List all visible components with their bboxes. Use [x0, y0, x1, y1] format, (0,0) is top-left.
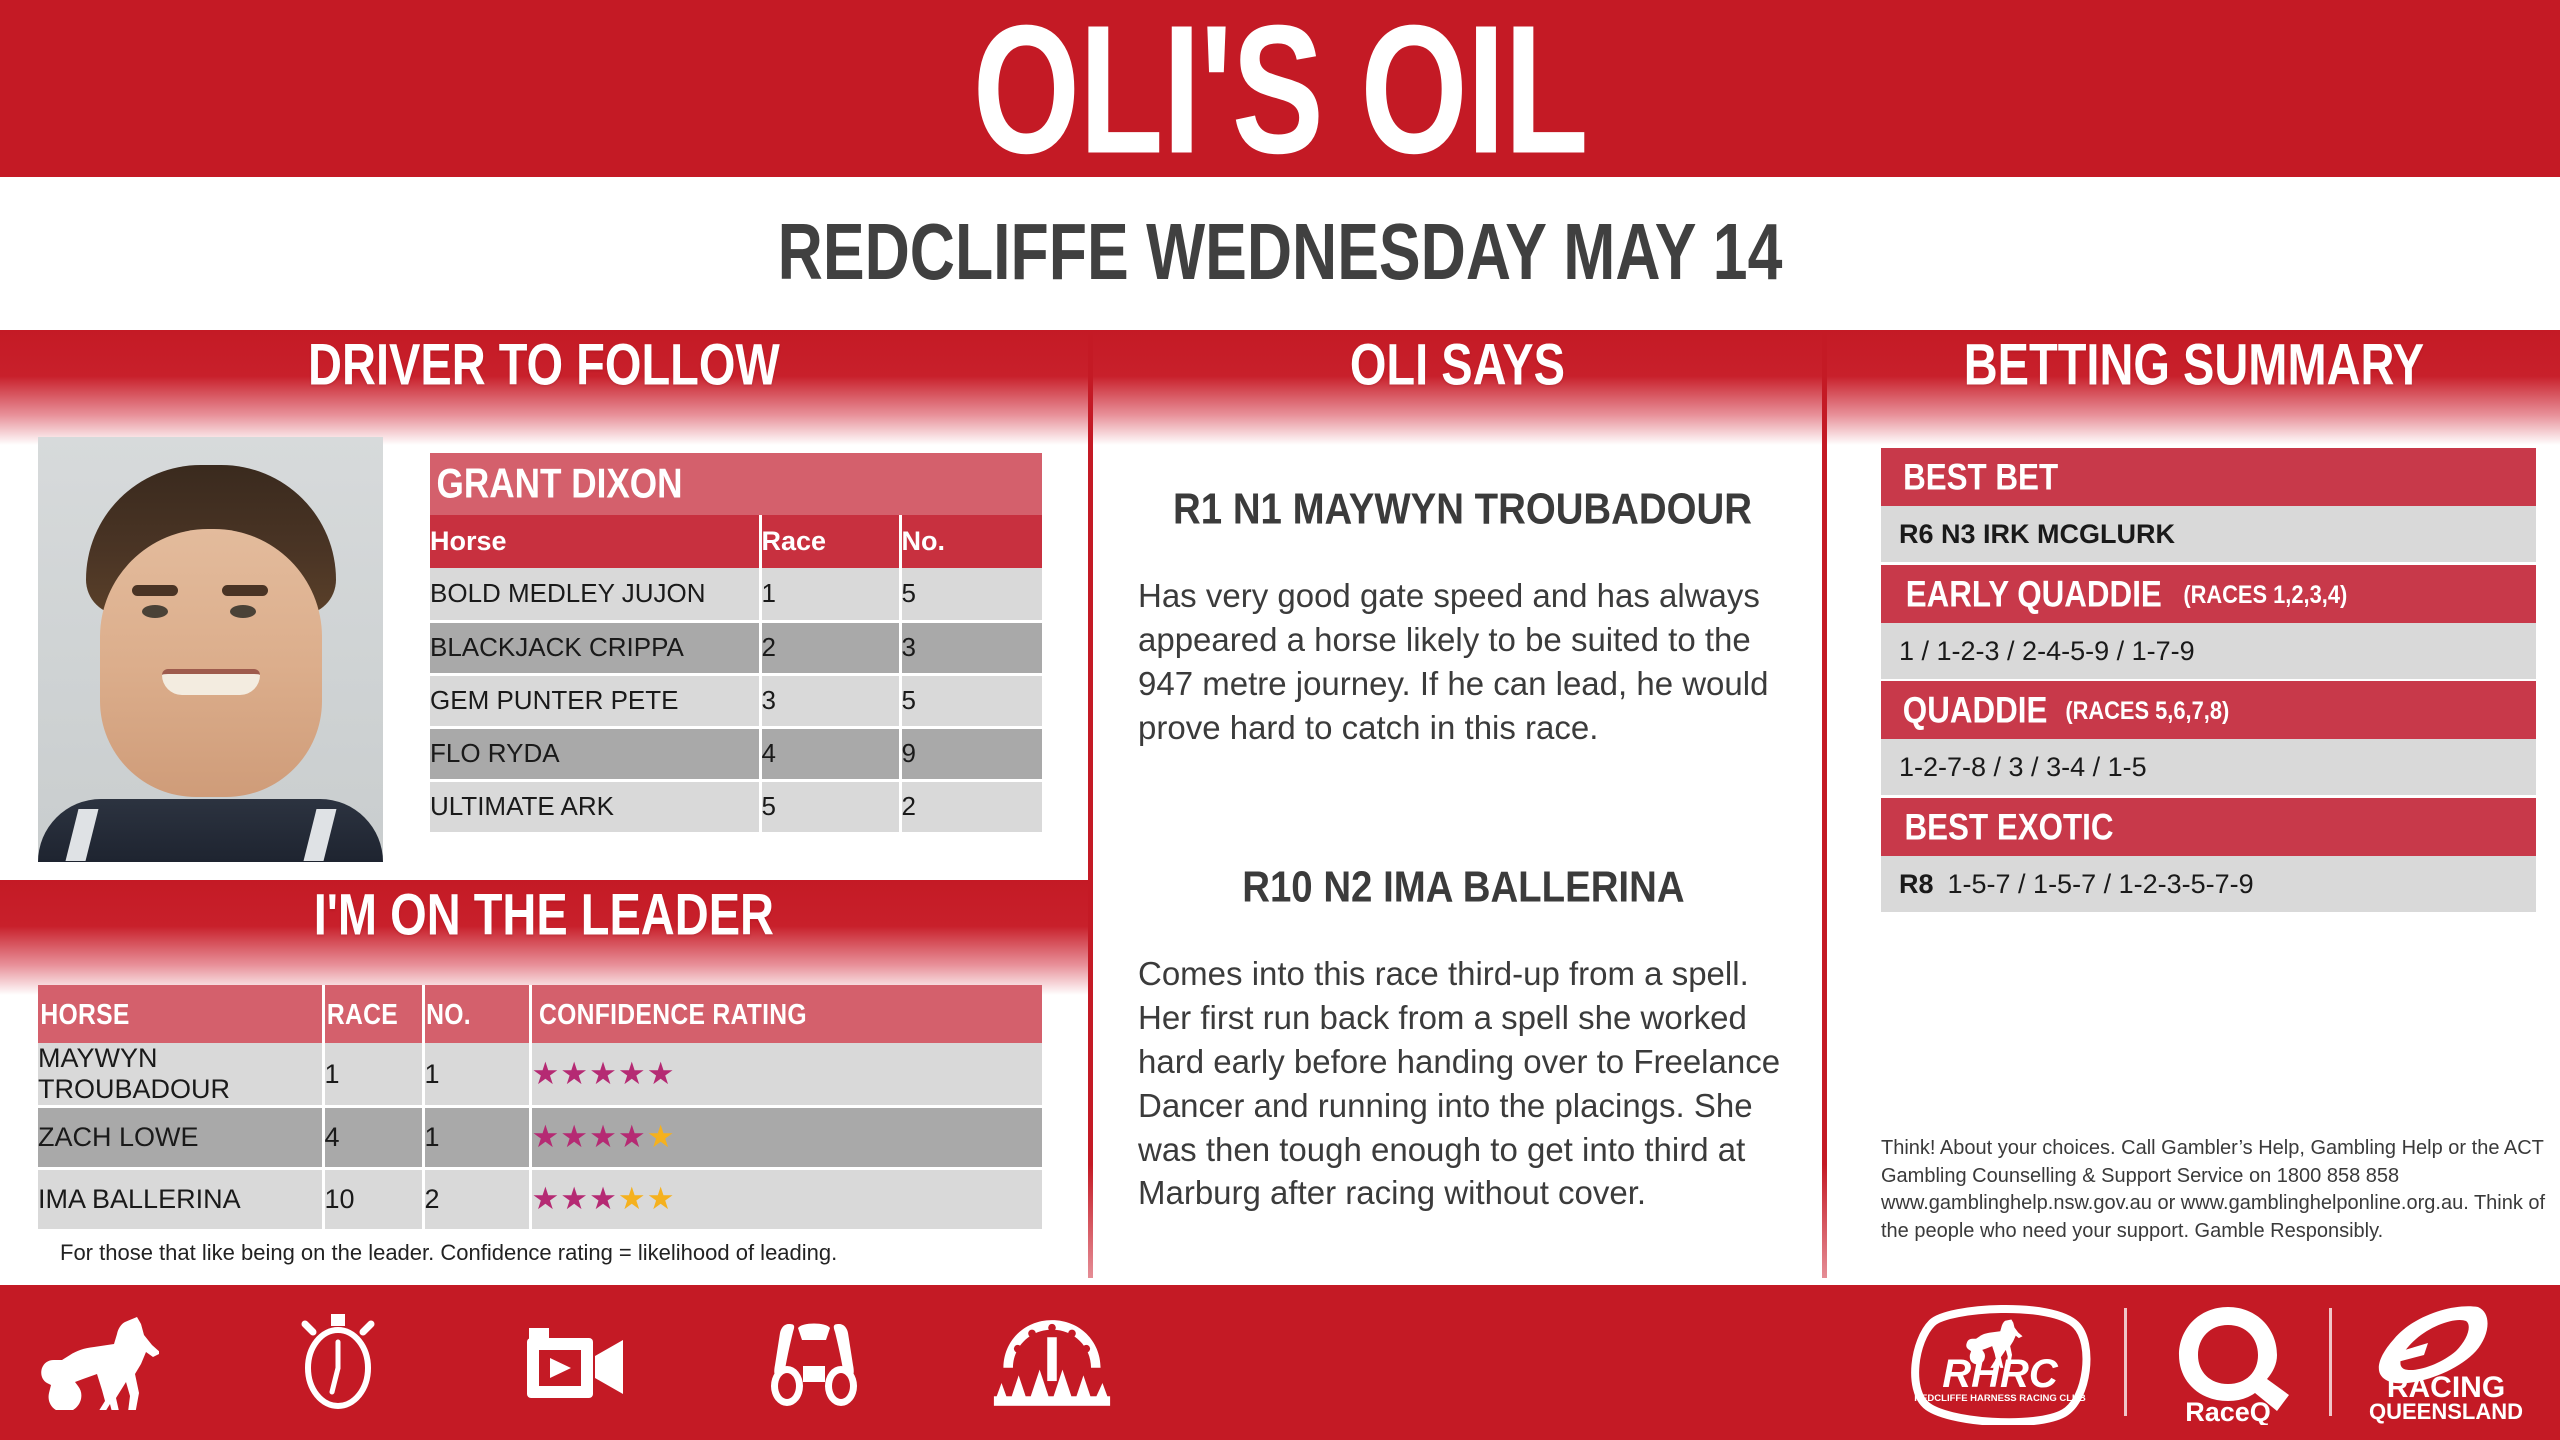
driver-row-race: 5 — [760, 780, 900, 833]
confidence-stars: ★★★★★ — [532, 1056, 676, 1091]
logo-separator-2 — [2329, 1308, 2332, 1416]
betting-quaddie-value: 1-2-7-8 / 3 / 3-4 / 1-5 — [1881, 739, 2536, 795]
tip-title: R1 N1 MAYWYN TROUBADOUR — [1138, 487, 1788, 532]
driver-col-race: Race — [760, 515, 900, 568]
rhrc-logo-text: RHRC — [1942, 1352, 2059, 1396]
tip-title: R10 N2 IMA BALLERINA — [1138, 865, 1788, 910]
driver-row-no: 3 — [900, 621, 1042, 674]
driver-to-follow-table: GRANT DIXON Horse Race No. BOLD MEDLEY J… — [430, 453, 1042, 835]
meeting-subtitle: REDCLIFFE WEDNESDAY MAY 14 — [778, 206, 1783, 298]
leader-row-rating: ★★★★★ — [530, 1107, 1042, 1169]
driver-row-no: 9 — [900, 727, 1042, 780]
driver-row-race: 2 — [760, 621, 900, 674]
betting-best-exotic-race: R8 — [1899, 869, 1934, 900]
driver-col-no: No. — [900, 515, 1042, 568]
betting-quaddie-label: QUADDIE — [1903, 689, 2048, 732]
driver-name-row: GRANT DIXON — [430, 453, 1042, 515]
betting-early-quaddie-races: (RACES 1,2,3,4) — [2183, 579, 2347, 609]
table-row: ZACH LOWE 4 1 ★★★★★ — [38, 1107, 1042, 1169]
leader-row-no: 1 — [423, 1043, 530, 1107]
betting-early-quaddie-label: EARLY QUADDIE — [1906, 573, 2162, 616]
driver-row-no: 2 — [900, 780, 1042, 833]
driver-row-horse: BOLD MEDLEY JUJON — [430, 568, 760, 621]
portrait-mouth — [162, 669, 260, 695]
tip-body: Has very good gate speed and has always … — [1138, 574, 1788, 750]
section-header-im-on-the-leader: I'M ON THE LEADER — [0, 880, 1088, 995]
infographic-page: OLI'S OIL REDCLIFFE WEDNESDAY MAY 14 DRI… — [0, 0, 2560, 1440]
grandstand-icon — [992, 1303, 1112, 1421]
leader-table-header-row: HORSE RACE NO. CONFIDENCE RATING — [38, 985, 1042, 1043]
betting-best-exotic-value: R8 1-5-7 / 1-5-7 / 1-2-3-5-7-9 — [1881, 856, 2536, 912]
im-on-the-leader-table: HORSE RACE NO. CONFIDENCE RATING MAYWYN … — [38, 985, 1042, 1232]
section-title-oli-says: OLI SAYS — [1350, 331, 1565, 398]
racing-queensland-line2: QUEENSLAND — [2369, 1399, 2523, 1424]
driver-name: GRANT DIXON — [436, 460, 682, 507]
table-row: ULTIMATE ARK 5 2 — [430, 780, 1042, 833]
section-header-oli-says: OLI SAYS — [1093, 330, 1822, 445]
section-title-driver-to-follow: DRIVER TO FOLLOW — [308, 331, 780, 398]
portrait-brow-left — [132, 585, 178, 596]
stopwatch-icon — [278, 1303, 398, 1421]
table-row: IMA BALLERINA 10 2 ★★★★★ — [38, 1169, 1042, 1231]
portrait-eye-left — [142, 605, 168, 618]
binoculars-icon — [754, 1303, 874, 1421]
rhrc-logo: RHRC REDCLIFFE HARNESS RACING CLUB — [1902, 1299, 2098, 1425]
leader-row-horse: ZACH LOWE — [38, 1107, 323, 1169]
harness-racing-icon — [40, 1303, 160, 1421]
video-camera-icon — [516, 1303, 636, 1421]
table-row: MAYWYN TROUBADOUR 1 1 ★★★★★ — [38, 1043, 1042, 1107]
betting-quaddie-races: (RACES 5,6,7,8) — [2066, 695, 2230, 725]
betting-early-quaddie-value: 1 / 1-2-3 / 2-4-5-9 / 1-7-9 — [1881, 623, 2536, 679]
subtitle-band: REDCLIFFE WEDNESDAY MAY 14 — [0, 177, 2560, 327]
portrait-brow-right — [222, 585, 268, 596]
leader-col-confidence-rating: CONFIDENCE RATING — [530, 985, 1042, 1043]
betting-best-exotic-combos: 1-5-7 / 1-5-7 / 1-2-3-5-7-9 — [1948, 869, 2254, 900]
portrait-face — [100, 529, 322, 797]
betting-best-bet-header: BEST BET — [1881, 448, 2536, 506]
driver-row-horse: FLO RYDA — [430, 727, 760, 780]
betting-best-exotic-block: BEST EXOTIC R8 1-5-7 / 1-5-7 / 1-2-3-5-7… — [1881, 798, 2536, 912]
table-row: FLO RYDA 4 9 — [430, 727, 1042, 780]
leader-row-horse: IMA BALLERINA — [38, 1169, 323, 1231]
betting-best-bet-block: BEST BET R6 N3 IRK MCGLURK — [1881, 448, 2536, 562]
rhrc-logo-subtext: REDCLIFFE HARNESS RACING CLUB — [1914, 1393, 2086, 1404]
leader-row-no: 2 — [423, 1169, 530, 1231]
driver-portrait-photo — [38, 437, 383, 862]
leader-row-no: 1 — [423, 1107, 530, 1169]
driver-row-race: 3 — [760, 674, 900, 727]
driver-row-no: 5 — [900, 674, 1042, 727]
leader-col-horse: HORSE — [38, 985, 323, 1043]
section-title-im-on-the-leader: I'M ON THE LEADER — [314, 881, 774, 948]
betting-best-exotic-header: BEST EXOTIC — [1881, 798, 2536, 856]
logo-separator-1 — [2124, 1308, 2127, 1416]
leader-row-race: 4 — [323, 1107, 423, 1169]
betting-best-bet-label: BEST BET — [1903, 456, 2058, 499]
racing-queensland-logo: RACING QUEENSLAND — [2358, 1299, 2530, 1425]
raceq-logo: RaceQ — [2153, 1299, 2303, 1425]
leader-row-horse: MAYWYN TROUBADOUR — [38, 1043, 323, 1107]
leader-row-rating: ★★★★★ — [530, 1043, 1042, 1107]
confidence-stars: ★★★★★ — [532, 1119, 676, 1154]
betting-quaddie-block: QUADDIE (RACES 5,6,7,8) 1-2-7-8 / 3 / 3-… — [1881, 681, 2536, 795]
oli-says-tip-1: R1 N1 MAYWYN TROUBADOUR Has very good ga… — [1138, 487, 1788, 750]
column-divider-right — [1822, 330, 1827, 1278]
tip-body: Comes into this race third-up from a spe… — [1138, 952, 1788, 1215]
betting-early-quaddie-block: EARLY QUADDIE (RACES 1,2,3,4) 1 / 1-2-3 … — [1881, 565, 2536, 679]
leader-table-footnote: For those that like being on the leader.… — [60, 1240, 837, 1266]
leader-row-race: 10 — [323, 1169, 423, 1231]
top-banner: OLI'S OIL — [0, 0, 2560, 177]
betting-quaddie-header: QUADDIE (RACES 5,6,7,8) — [1881, 681, 2536, 739]
page-title: OLI'S OIL — [973, 0, 1588, 180]
raceq-logo-text: RaceQ — [2185, 1397, 2271, 1425]
gambling-disclaimer: Think! About your choices. Call Gambler’… — [1881, 1135, 2553, 1245]
leader-col-race: RACE — [323, 985, 423, 1043]
section-header-betting-summary: BETTING SUMMARY — [1827, 330, 2560, 445]
driver-row-race: 1 — [760, 568, 900, 621]
betting-best-exotic-label: BEST EXOTIC — [1905, 806, 2114, 849]
portrait-eye-right — [230, 605, 256, 618]
driver-name-bar: GRANT DIXON — [430, 453, 1042, 515]
footer-bar: RHRC REDCLIFFE HARNESS RACING CLUB RaceQ… — [0, 1285, 2560, 1440]
table-row: GEM PUNTER PETE 3 5 — [430, 674, 1042, 727]
leader-row-race: 1 — [323, 1043, 423, 1107]
section-header-driver-to-follow: DRIVER TO FOLLOW — [0, 330, 1088, 445]
section-title-betting-summary: BETTING SUMMARY — [1963, 331, 2423, 398]
driver-row-no: 5 — [900, 568, 1042, 621]
betting-best-bet-value: R6 N3 IRK MCGLURK — [1881, 506, 2536, 562]
driver-col-horse: Horse — [430, 515, 760, 568]
oli-says-tip-2: R10 N2 IMA BALLERINA Comes into this rac… — [1138, 865, 1788, 1215]
driver-table-header-row: Horse Race No. — [430, 515, 1042, 568]
table-row: BLACKJACK CRIPPA 2 3 — [430, 621, 1042, 674]
driver-row-race: 4 — [760, 727, 900, 780]
betting-early-quaddie-header: EARLY QUADDIE (RACES 1,2,3,4) — [1881, 565, 2536, 623]
leader-row-rating: ★★★★★ — [530, 1169, 1042, 1231]
driver-row-horse: GEM PUNTER PETE — [430, 674, 760, 727]
footer-icon-group — [40, 1303, 1112, 1421]
column-divider-left — [1088, 330, 1093, 1278]
confidence-stars: ★★★★★ — [532, 1181, 676, 1216]
leader-col-no: NO. — [423, 985, 530, 1043]
driver-row-horse: ULTIMATE ARK — [430, 780, 760, 833]
table-row: BOLD MEDLEY JUJON 1 5 — [430, 568, 1042, 621]
footer-logo-group: RHRC REDCLIFFE HARNESS RACING CLUB RaceQ… — [1902, 1299, 2530, 1425]
driver-row-horse: BLACKJACK CRIPPA — [430, 621, 760, 674]
